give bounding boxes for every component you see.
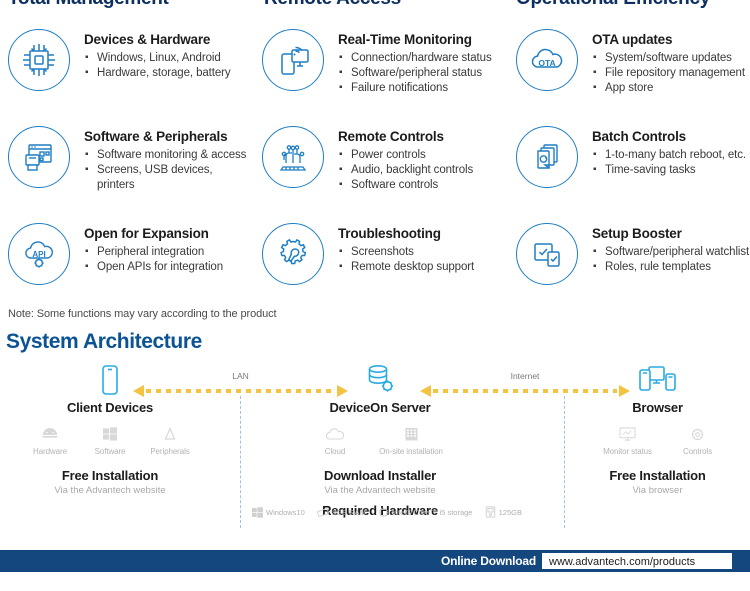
bullet-item: File repository management: [592, 66, 745, 81]
online-download-label: Online Download: [441, 554, 536, 568]
column-header-total-management: Total Management: [0, 0, 250, 10]
required-hardware-row: Windows10 8GB RAM Intel® Core™ i5 storag…: [252, 506, 522, 518]
feature-card-setup-booster[interactable]: Setup Booster Software/peripheral watchl…: [500, 220, 750, 317]
bullet-item: Software monitoring & access: [84, 148, 250, 163]
feature-card-batch-controls[interactable]: Batch Controls 1-to-many batch reboot, e…: [500, 123, 750, 220]
feature-card-open-for-expansion[interactable]: API Open for Expansion Peripheral integr…: [0, 220, 250, 317]
feature-title: Devices & Hardware: [84, 32, 231, 47]
sub-item-cloud: Cloud: [304, 425, 366, 456]
feature-bullets: System/software updates File repository …: [592, 51, 745, 96]
feature-text: Troubleshooting Screenshots Remote deskt…: [338, 220, 474, 275]
feature-row: API Open for Expansion Peripheral integr…: [0, 220, 750, 317]
bullet-item: Open APIs for integration: [84, 260, 223, 275]
architecture-diagram: LAN Internet Client Devic: [0, 362, 750, 537]
sub-item-caption: Hardware: [20, 447, 80, 456]
sub-item-software: Software: [80, 425, 140, 456]
install-title: Download Installer: [285, 468, 475, 483]
feature-card-software-peripherals[interactable]: Software & Peripherals Software monitori…: [0, 123, 250, 220]
bullet-item: Connection/hardware status: [338, 51, 492, 66]
bullet-item: Software/peripheral watchlist: [592, 245, 749, 260]
bullet-item: Peripheral integration: [84, 245, 223, 260]
feature-title: Batch Controls: [592, 129, 746, 144]
feature-title: Open for Expansion: [84, 226, 223, 241]
circuit-keyboard-icon: [262, 126, 324, 188]
install-title: Free Installation: [570, 468, 745, 483]
screencast-icon: [262, 29, 324, 91]
feature-text: Setup Booster Software/peripheral watchl…: [592, 220, 749, 275]
bullet-item: Audio, backlight controls: [338, 163, 473, 178]
feature-text: Devices & Hardware Windows, Linux, Andro…: [84, 26, 231, 81]
feature-row: Software & Peripherals Software monitori…: [0, 123, 750, 220]
bullet-item: Software controls: [338, 178, 473, 193]
feature-text: Open for Expansion Peripheral integratio…: [84, 220, 223, 275]
ram-icon: [317, 507, 329, 518]
required-hardware-caption: 8GB RAM: [332, 508, 366, 517]
footer-bar: Online Download www.advantech.com/produc…: [0, 550, 750, 572]
storage-icon: [485, 506, 496, 518]
feature-card-devices-hardware[interactable]: Devices & Hardware Windows, Linux, Andro…: [0, 26, 250, 123]
sub-item-on-site-installation: On-site installation: [366, 425, 456, 456]
api-cloud-gear-icon: API: [8, 223, 70, 285]
feature-text: Remote Controls Power controls Audio, ba…: [338, 123, 473, 193]
sub-item-caption: Controls: [668, 447, 728, 456]
bullet-item: Windows, Linux, Android: [84, 51, 231, 66]
bullet-item: Roles, rule templates: [592, 260, 749, 275]
bullet-item: Failure notifications: [338, 81, 492, 96]
bullet-item: Software/peripheral status: [338, 66, 492, 81]
feature-title: Real-Time Monitoring: [338, 32, 492, 47]
sub-item-monitor-status: Monitor status: [588, 425, 668, 456]
sub-item-caption: Monitor status: [588, 447, 668, 456]
feature-card-ota-updates[interactable]: OTA OTA updates System/software updates …: [500, 26, 750, 123]
divider-left: [240, 396, 241, 528]
install-subtitle: Via the Advantech website: [285, 485, 475, 496]
feature-title: Troubleshooting: [338, 226, 474, 241]
column-headers: Total Management Remote Access Operation…: [0, 0, 750, 10]
feature-card-remote-controls[interactable]: Remote Controls Power controls Audio, ba…: [250, 123, 500, 220]
arch-node-client-devices[interactable]: Client Devices Hardware: [20, 362, 200, 496]
feature-bullets: 1-to-many batch reboot, etc. Time-saving…: [592, 148, 746, 178]
bullet-item: Remote desktop support: [338, 260, 474, 275]
column-header-operational-efficiency: Operational Efficiency: [500, 0, 750, 10]
poster-page: Total Management Remote Access Operation…: [0, 0, 750, 591]
feature-card-troubleshooting[interactable]: Troubleshooting Screenshots Remote deskt…: [250, 220, 500, 317]
product-note: Note: Some functions may vary according …: [8, 308, 277, 320]
server-gear-icon: [285, 362, 475, 398]
sub-item-caption: Peripherals: [140, 447, 200, 456]
phone-icon: [20, 362, 200, 398]
feature-title: Software & Peripherals: [84, 129, 250, 144]
bullet-item: Power controls: [338, 148, 473, 163]
feature-bullets: Windows, Linux, Android Hardware, storag…: [84, 51, 231, 81]
node-sub-items: Cloud On-site installation: [285, 425, 475, 456]
svg-text:OTA: OTA: [538, 58, 555, 68]
stacked-docs-icon: [516, 126, 578, 188]
required-hardware-item: 8GB RAM: [317, 507, 366, 518]
sub-item-controls: Controls: [668, 425, 728, 456]
sub-item-caption: Software: [80, 447, 140, 456]
sub-item-caption: On-site installation: [366, 447, 456, 456]
sub-item-peripherals: Peripherals: [140, 425, 200, 456]
required-hardware-item: 125GB: [485, 506, 522, 518]
node-sub-items: Hardware Software: [20, 425, 200, 456]
divider-right: [564, 396, 565, 528]
cpu-icon: [378, 507, 389, 518]
node-label: DeviceOn Server: [285, 400, 475, 415]
feature-bullets: Software monitoring & access Screens, US…: [84, 148, 250, 193]
feature-row: Devices & Hardware Windows, Linux, Andro…: [0, 26, 750, 123]
bullet-item: 1-to-many batch reboot, etc.: [592, 148, 746, 163]
arch-node-browser[interactable]: Browser Monitor status: [570, 362, 745, 496]
windows-icon: [80, 425, 140, 443]
required-hardware-item: Windows10: [252, 507, 305, 518]
feature-bullets: Power controls Audio, backlight controls…: [338, 148, 473, 193]
monitor-icon: [588, 425, 668, 443]
install-subtitle: Via browser: [570, 485, 745, 496]
feature-text: Software & Peripherals Software monitori…: [84, 123, 250, 193]
ota-cloud-icon: OTA: [516, 29, 578, 91]
arch-node-deviceon-server[interactable]: DeviceOn Server Cloud: [285, 362, 475, 518]
install-title: Free Installation: [20, 468, 200, 483]
node-label: Browser: [570, 400, 745, 415]
required-hardware-caption: Windows10: [266, 508, 305, 517]
feature-title: OTA updates: [592, 32, 745, 47]
node-sub-items: Monitor status Controls: [570, 425, 745, 456]
feature-text: Real-Time Monitoring Connection/hardware…: [338, 26, 492, 96]
feature-text: Batch Controls 1-to-many batch reboot, e…: [592, 123, 746, 178]
bullet-item: Screenshots: [338, 245, 474, 260]
install-subtitle: Via the Advantech website: [20, 485, 200, 496]
sub-item-hardware: Hardware: [20, 425, 80, 456]
building-icon: [366, 425, 456, 443]
controls-gear-icon: [668, 425, 728, 443]
bullet-item: Time-saving tasks: [592, 163, 746, 178]
download-url-field[interactable]: www.advantech.com/products: [542, 553, 732, 569]
cloud-icon: [304, 425, 366, 443]
feature-bullets: Software/peripheral watchlist Roles, rul…: [592, 245, 749, 275]
gear-wrench-icon: [262, 223, 324, 285]
bullet-item: System/software updates: [592, 51, 745, 66]
bullet-item: App store: [592, 81, 745, 96]
required-hardware-caption: 125GB: [499, 508, 522, 517]
required-hardware-item: Intel® Core™ i5 storage: [378, 507, 473, 518]
chip-icon: [8, 29, 70, 91]
feature-card-real-time-monitoring[interactable]: Real-Time Monitoring Connection/hardware…: [250, 26, 500, 123]
windows-icon: [252, 507, 263, 518]
peripheral-icon: [140, 425, 200, 443]
column-header-remote-access: Remote Access: [250, 0, 500, 10]
printer-window-icon: [8, 126, 70, 188]
devices-check-icon: [516, 223, 578, 285]
svg-text:API: API: [32, 250, 45, 259]
section-title-system-architecture: System Architecture: [6, 330, 202, 354]
android-icon: [20, 425, 80, 443]
sub-item-caption: Cloud: [304, 447, 366, 456]
feature-bullets: Screenshots Remote desktop support: [338, 245, 474, 275]
feature-title: Setup Booster: [592, 226, 749, 241]
feature-bullets: Peripheral integration Open APIs for int…: [84, 245, 223, 275]
feature-grid: Devices & Hardware Windows, Linux, Andro…: [0, 26, 750, 317]
node-label: Client Devices: [20, 400, 200, 415]
feature-text: OTA updates System/software updates File…: [592, 26, 745, 96]
bullet-item: Screens, USB devices, printers: [84, 163, 250, 193]
browser-devices-icon: [570, 362, 745, 398]
feature-bullets: Connection/hardware status Software/peri…: [338, 51, 492, 96]
bullet-item: Hardware, storage, battery: [84, 66, 231, 81]
feature-title: Remote Controls: [338, 129, 473, 144]
required-hardware-caption: Intel® Core™ i5 storage: [392, 508, 473, 517]
